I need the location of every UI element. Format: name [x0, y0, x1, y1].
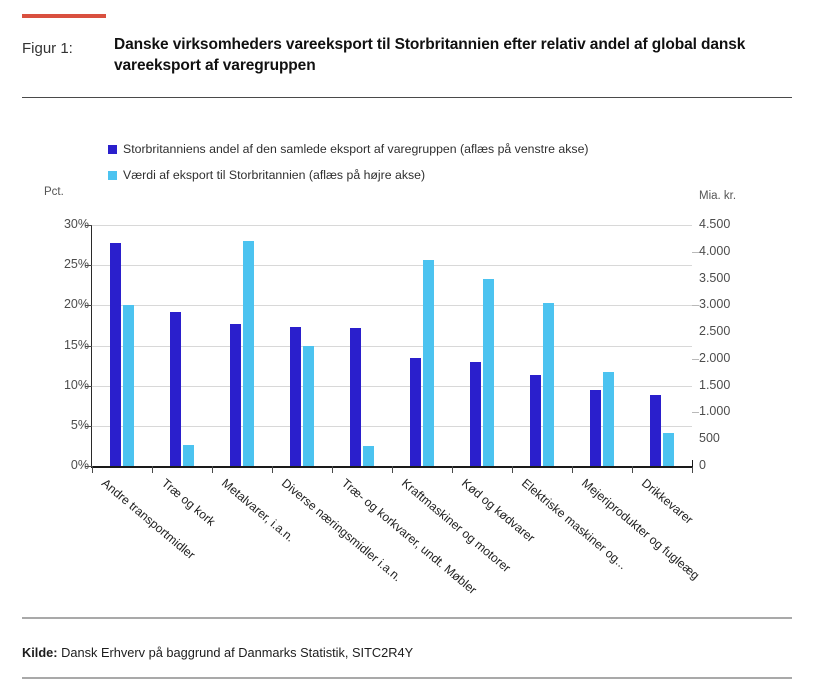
- y-axis-left-label: 5%: [29, 418, 89, 432]
- source-text: Dansk Erhverv på baggrund af Danmarks St…: [58, 645, 414, 660]
- bar-share: [530, 375, 541, 466]
- footer-divider-bottom: [22, 677, 792, 679]
- y-axis-right-label: 500: [699, 431, 769, 445]
- gridline: [92, 305, 692, 306]
- y-axis-right-title: Mia. kr.: [699, 190, 736, 202]
- x-axis-tick: [92, 466, 93, 473]
- figure-label: Figur 1:: [22, 34, 114, 57]
- x-axis-label: Kraftmaskiner og motorer: [399, 476, 513, 575]
- bar-share: [650, 395, 661, 466]
- bar-value: [243, 241, 254, 466]
- x-axis-tick: [632, 466, 633, 473]
- y-axis-right-tick: [692, 252, 699, 253]
- bar-share: [290, 327, 301, 466]
- x-axis-tick: [332, 466, 333, 473]
- y-axis-right-label: 4.500: [699, 217, 769, 231]
- legend-item-share: Storbritanniens andel af den samlede eks…: [108, 142, 589, 156]
- legend-label-value: Værdi af eksport til Storbritannien (afl…: [123, 168, 425, 182]
- y-axis-left-label: 30%: [29, 217, 89, 231]
- gridline: [92, 426, 692, 427]
- y-axis-right-label: 1.500: [699, 378, 769, 392]
- legend-swatch-value: [108, 171, 117, 180]
- source-label: Kilde:: [22, 645, 58, 660]
- x-axis-label: Træ og kork: [159, 476, 218, 529]
- y-axis-right-tick: [692, 359, 699, 360]
- x-axis-right-end: [692, 460, 693, 467]
- page-title: Danske virksomheders vareeksport til Sto…: [114, 34, 792, 77]
- x-axis-label: Drikkevarer: [639, 476, 696, 527]
- figure-header: Figur 1: Danske virksomheders vareekspor…: [22, 34, 792, 92]
- y-axis-left-label: 10%: [29, 378, 89, 392]
- legend-swatch-share: [108, 145, 117, 154]
- bar-share: [470, 362, 481, 466]
- source-note: Kilde: Dansk Erhverv på baggrund af Danm…: [22, 645, 413, 660]
- x-axis-tick: [572, 466, 573, 473]
- gridline: [92, 386, 692, 387]
- x-axis-tick: [212, 466, 213, 473]
- bar-value: [423, 260, 434, 466]
- header-divider: [22, 97, 792, 98]
- x-axis-tick: [272, 466, 273, 473]
- x-axis-label: Mejeriprodukter og fugleæg: [579, 476, 702, 583]
- x-axis-label: Diverse næringsmidler i.a.n.: [279, 476, 404, 584]
- y-axis-left-title: Pct.: [44, 186, 64, 198]
- y-axis-left-label: 0%: [29, 458, 89, 472]
- bar-share: [410, 358, 421, 466]
- x-axis-label: Elektriske maskiner og...: [519, 476, 630, 572]
- gridline: [92, 225, 692, 226]
- y-axis-left-label: 15%: [29, 338, 89, 352]
- y-axis-right-label: 3.500: [699, 271, 769, 285]
- bar-value: [483, 279, 494, 466]
- legend-item-value: Værdi af eksport til Storbritannien (afl…: [108, 168, 589, 182]
- x-axis-tick: [692, 466, 693, 473]
- bar-value: [543, 303, 554, 466]
- plot-inner: [92, 225, 692, 466]
- bar-value: [183, 445, 194, 466]
- plot-area: 30%25%20%15%10%5%0%4.5004.0003.5003.0002…: [92, 225, 692, 466]
- bar-share: [350, 328, 361, 466]
- bar-value: [303, 346, 314, 467]
- bar-value: [603, 372, 614, 466]
- chart-legend: Storbritanniens andel af den samlede eks…: [108, 142, 589, 194]
- y-axis-right-label: 2.500: [699, 324, 769, 338]
- chart-container: Storbritanniens andel af den samlede eks…: [0, 108, 814, 598]
- bar-share: [170, 312, 181, 466]
- y-axis-right-label: 1.000: [699, 404, 769, 418]
- y-axis-right-label: 3.000: [699, 297, 769, 311]
- x-axis-tick: [452, 466, 453, 473]
- y-axis-right-label: 2.000: [699, 351, 769, 365]
- bar-share: [110, 243, 121, 466]
- y-axis-right-label: 4.000: [699, 244, 769, 258]
- bar-value: [123, 305, 134, 466]
- bar-value: [363, 446, 374, 466]
- y-axis-left-label: 25%: [29, 257, 89, 271]
- accent-bar: [22, 14, 106, 18]
- footer-divider-top: [22, 617, 792, 619]
- y-axis-right-tick: [692, 305, 699, 306]
- y-axis-right-tick: [692, 412, 699, 413]
- y-axis-left-label: 20%: [29, 297, 89, 311]
- bar-value: [663, 433, 674, 466]
- gridline: [92, 346, 692, 347]
- x-axis-tick: [512, 466, 513, 473]
- x-axis-tick: [152, 466, 153, 473]
- legend-label-share: Storbritanniens andel af den samlede eks…: [123, 142, 589, 156]
- gridline: [92, 265, 692, 266]
- x-axis-tick: [392, 466, 393, 473]
- bar-share: [590, 390, 601, 466]
- y-axis-right-label: 0: [699, 458, 769, 472]
- bar-share: [230, 324, 241, 466]
